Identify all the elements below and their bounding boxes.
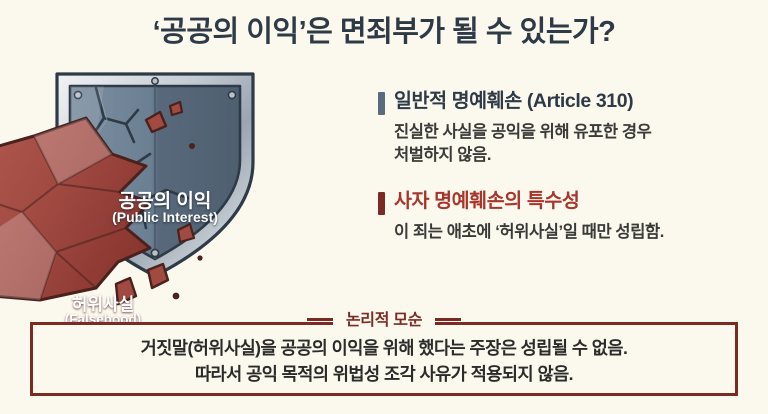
point-body-line: 진실한 사실을 공익을 위해 유포한 경우 (394, 121, 760, 144)
point-body: 이 죄는 애초에 ‘허위사실’일 때만 성립함. (394, 221, 760, 244)
accent-bar-icon (378, 192, 385, 215)
point-heading-row: 일반적 명예훼손 (Article 310) (378, 90, 760, 115)
point-heading: 일반적 명예훼손 (Article 310) (394, 90, 633, 113)
shield-illustration: 공공의 이익 (Public Interest) 허위사실 (Falsehood… (0, 62, 372, 324)
conclusion-line: 거짓말(허위사실)을 공공의 이익을 위해 했다는 주장은 성립될 수 없음. (33, 335, 735, 361)
points-list: 일반적 명예훼손 (Article 310) 진실한 사실을 공익을 위해 유포… (378, 90, 760, 266)
page-title: ‘공공의 이익’은 면죄부가 될 수 있는가? (0, 8, 768, 50)
conclusion-text: 거짓말(허위사실)을 공공의 이익을 위해 했다는 주장은 성립될 수 없음. … (33, 335, 735, 388)
rule-right-icon (435, 318, 461, 321)
accent-bar-icon (378, 92, 385, 115)
point-item-general-defamation: 일반적 명예훼손 (Article 310) 진실한 사실을 공익을 위해 유포… (378, 90, 760, 168)
point-item-deceased-defamation: 사자 명예훼손의 특수성 이 죄는 애초에 ‘허위사실’일 때만 성립함. (378, 190, 760, 244)
conclusion-line: 따라서 공익 목적의 위법성 조각 사유가 적용되지 않음. (33, 361, 735, 387)
point-body-line: 처벌하지 않음. (394, 144, 760, 167)
conclusion-box: 거짓말(허위사실)을 공공의 이익을 위해 했다는 주장은 성립될 수 없음. … (30, 322, 738, 396)
point-heading: 사자 명예훼손의 특수성 (394, 190, 579, 213)
infographic-canvas: ‘공공의 이익’은 면죄부가 될 수 있는가? (0, 0, 768, 414)
point-body-line: 이 죄는 애초에 ‘허위사실’일 때만 성립함. (394, 221, 760, 244)
point-body: 진실한 사실을 공익을 위해 유포한 경우 처벌하지 않음. (394, 121, 760, 168)
point-heading-row: 사자 명예훼손의 특수성 (378, 190, 760, 215)
